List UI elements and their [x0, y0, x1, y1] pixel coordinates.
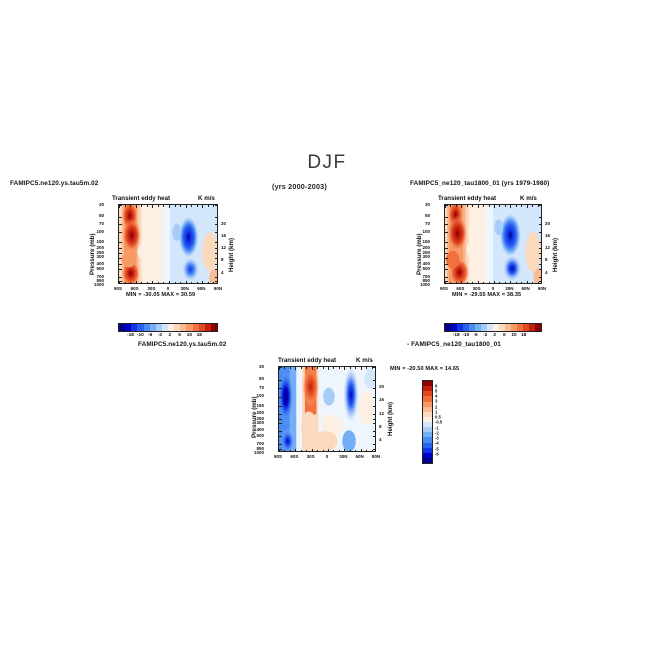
- panel-bottom-minmax: MIN = -20.50 MAX = 14.65: [390, 366, 459, 372]
- axis-tick-mark: [539, 253, 542, 254]
- axis-tick-mark: [461, 205, 462, 208]
- colorbar-tick-label: 1: [435, 409, 437, 414]
- panel-top-right-units: K m/s: [520, 195, 537, 202]
- axis-tick-mark: [119, 232, 122, 233]
- axis-tick-mark: [279, 419, 282, 420]
- axis-tick-mark: [279, 436, 282, 437]
- axis-minor-tick-mark: [532, 205, 533, 207]
- axis-tick-mark: [539, 232, 542, 233]
- pressure-tick-label: 30: [425, 202, 430, 207]
- main-title: DJF: [0, 152, 654, 174]
- height-tick-label: 16: [379, 397, 384, 402]
- axis-minor-tick-mark: [290, 450, 291, 452]
- axis-tick-mark: [373, 449, 376, 450]
- axis-tick-mark: [186, 205, 187, 208]
- axis-minor-tick-mark: [521, 205, 522, 207]
- axis-tick-mark: [445, 264, 448, 265]
- panel-top-right-colorbar[interactable]: [444, 323, 542, 332]
- pressure-tick-label: 1000: [94, 282, 104, 287]
- axis-tick-mark: [119, 224, 122, 225]
- lat-tick-label: 60S: [131, 286, 139, 291]
- pressure-tick-label: 150: [96, 239, 104, 244]
- axis-tick-mark: [119, 205, 122, 206]
- axis-minor-tick-mark: [141, 205, 142, 207]
- axis-tick-mark: [215, 217, 218, 218]
- height-tick-label: 20: [545, 221, 550, 226]
- axis-tick-mark: [373, 388, 376, 389]
- colorbar-tick-label: 18: [197, 333, 202, 338]
- colorbar-tick-label: -18: [127, 333, 134, 338]
- axis-tick-mark: [445, 258, 448, 259]
- panel-top-left-minmax: MIN = -30.05 MAX = 30.59: [126, 292, 195, 298]
- axis-tick-mark: [119, 258, 122, 259]
- axis-tick-mark: [312, 449, 313, 452]
- panel-bottom-case-title-right: - FAMIPC5_ne120_tau1800_01: [407, 341, 501, 348]
- pressure-tick-label: 50: [425, 213, 430, 218]
- axis-tick-mark: [527, 281, 528, 284]
- panel-top-left-plot-frame[interactable]: [118, 204, 218, 284]
- colorbar-tick-label: 2: [168, 333, 171, 338]
- pressure-tick-label: 300: [256, 420, 264, 425]
- colorbar-tick-label: 2: [435, 404, 437, 409]
- axis-tick-mark: [119, 264, 122, 265]
- height-tick-label: 12: [379, 411, 384, 416]
- height-tick-label: 8: [379, 424, 382, 429]
- axis-tick-mark: [373, 406, 376, 407]
- axis-tick-mark: [445, 217, 448, 218]
- colorbar-swatch-15: [211, 324, 217, 331]
- axis-tick-mark: [215, 242, 218, 243]
- axis-tick-mark: [215, 253, 218, 254]
- axis-tick-mark: [527, 205, 528, 208]
- axis-tick-mark: [312, 367, 313, 370]
- axis-minor-tick-mark: [472, 205, 473, 207]
- lat-tick-label: 0: [492, 286, 495, 291]
- colorbar-tick-label: -10: [137, 333, 144, 338]
- colorbar-tick-label: 5: [435, 388, 437, 393]
- axis-tick-mark: [136, 281, 137, 284]
- panel-bottom-plot-head: Transient eddy heat: [278, 357, 336, 364]
- axis-minor-tick-mark: [125, 205, 126, 207]
- axis-minor-tick-mark: [333, 450, 334, 452]
- axis-tick-mark: [136, 205, 137, 208]
- axis-tick-mark: [445, 248, 448, 249]
- axis-minor-tick-mark: [191, 282, 192, 284]
- lat-tick-label: 90S: [114, 286, 122, 291]
- height-tick-label: 16: [545, 233, 550, 238]
- axis-minor-tick-mark: [472, 282, 473, 284]
- axis-tick-mark: [478, 281, 479, 284]
- axis-minor-tick-mark: [505, 205, 506, 207]
- axis-tick-mark: [373, 414, 376, 415]
- axis-minor-tick-mark: [197, 282, 198, 284]
- pressure-tick-label: 1000: [254, 450, 264, 455]
- axis-minor-tick-mark: [499, 205, 500, 207]
- axis-minor-tick-mark: [339, 450, 340, 452]
- axis-minor-tick-mark: [147, 282, 148, 284]
- panel-top-left-units: K m/s: [198, 195, 215, 202]
- axis-tick-mark: [494, 281, 495, 284]
- axis-tick-mark: [279, 423, 282, 424]
- lat-tick-label: 60N: [197, 286, 205, 291]
- axis-minor-tick-mark: [180, 282, 181, 284]
- axis-tick-mark: [510, 281, 511, 284]
- height-tick-label: 16: [221, 233, 226, 238]
- axis-tick-mark: [215, 248, 218, 249]
- axis-minor-tick-mark: [450, 205, 451, 207]
- axis-minor-tick-mark: [532, 282, 533, 284]
- panel-bottom-diff[interactable]: FAMIPC5.ne120.ys.tau5m.02 - FAMIPC5_ne12…: [230, 336, 530, 486]
- axis-minor-tick-mark: [125, 282, 126, 284]
- axis-minor-tick-mark: [366, 367, 367, 369]
- lat-tick-label: 30S: [147, 286, 155, 291]
- axis-tick-mark: [539, 258, 542, 259]
- axis-minor-tick-mark: [175, 282, 176, 284]
- panel-top-left[interactable]: FAMIPC5.ne120.ys.tau5m.02 Transient eddy…: [0, 175, 240, 340]
- axis-tick-mark: [445, 281, 448, 282]
- axis-tick-mark: [344, 449, 345, 452]
- pressure-tick-label: 200: [256, 410, 264, 415]
- lat-tick-label: 30S: [473, 286, 481, 291]
- panel-top-left-case-title: FAMIPC5.ne120.ys.tau5m.02: [10, 180, 98, 187]
- panel-top-right-minmax: MIN = -29.55 MAX = 38.35: [452, 292, 521, 298]
- pressure-tick-label: 100: [96, 229, 104, 234]
- pressure-tick-label: 500: [96, 266, 104, 271]
- colorbar-tick-label: -6: [148, 333, 152, 338]
- axis-tick-mark: [215, 264, 218, 265]
- axis-tick-mark: [295, 449, 296, 452]
- panel-bottom-contour-field: [279, 367, 375, 451]
- axis-tick-mark: [373, 444, 376, 445]
- colorbar-swatch-15: [535, 324, 541, 331]
- axis-minor-tick-mark: [208, 205, 209, 207]
- height-tick-label: 4: [221, 270, 224, 275]
- colorbar-tick-label: 10: [187, 333, 192, 338]
- axis-minor-tick-mark: [208, 282, 209, 284]
- axis-tick-mark: [215, 258, 218, 259]
- pressure-tick-label: 500: [256, 433, 264, 438]
- axis-minor-tick-mark: [323, 367, 324, 369]
- lat-tick-label: 60S: [290, 454, 298, 459]
- axis-tick-mark: [494, 205, 495, 208]
- axis-tick-mark: [279, 449, 282, 450]
- pressure-tick-label: 300: [96, 254, 104, 259]
- pressure-tick-label: 70: [99, 221, 104, 226]
- axis-tick-mark: [279, 406, 282, 407]
- axis-tick-mark: [539, 264, 542, 265]
- axis-tick-mark: [215, 277, 218, 278]
- axis-tick-mark: [279, 367, 282, 368]
- axis-minor-tick-mark: [158, 205, 159, 207]
- colorbar-tick-label: 6: [435, 383, 437, 388]
- pressure-tick-label: 1000: [420, 282, 430, 287]
- colorbar-tick-label: -4: [435, 441, 439, 446]
- panel-top-left-contour-field: [119, 205, 217, 283]
- pressure-tick-label: 400: [256, 427, 264, 432]
- pressure-tick-label: 300: [422, 254, 430, 259]
- panel-top-right-ylabel-right: Height (km): [552, 238, 559, 272]
- axis-minor-tick-mark: [499, 282, 500, 284]
- axis-tick-mark: [445, 205, 448, 206]
- axis-minor-tick-mark: [141, 282, 142, 284]
- axis-tick-mark: [279, 397, 282, 398]
- lat-tick-label: 30N: [181, 286, 189, 291]
- axis-minor-tick-mark: [350, 450, 351, 452]
- axis-tick-mark: [169, 205, 170, 208]
- axis-tick-mark: [328, 367, 329, 370]
- pressure-tick-label: 100: [256, 393, 264, 398]
- axis-tick-mark: [328, 449, 329, 452]
- axis-tick-mark: [202, 281, 203, 284]
- panel-bottom-plot-frame[interactable]: [278, 366, 376, 452]
- axis-minor-tick-mark: [323, 450, 324, 452]
- axis-tick-mark: [279, 380, 282, 381]
- axis-minor-tick-mark: [489, 205, 490, 207]
- colorbar-tick-label: 0.5: [435, 415, 441, 420]
- pressure-tick-label: 50: [99, 213, 104, 218]
- axis-tick-mark: [373, 419, 376, 420]
- axis-tick-mark: [539, 205, 542, 206]
- axis-minor-tick-mark: [456, 205, 457, 207]
- axis-tick-mark: [119, 281, 122, 282]
- axis-tick-mark: [539, 242, 542, 243]
- height-tick-label: 8: [545, 257, 548, 262]
- axis-tick-mark: [279, 444, 282, 445]
- lat-tick-label: 90N: [372, 454, 380, 459]
- figure-subtitle: (yrs 2000-2003): [272, 182, 327, 191]
- pressure-tick-label: 500: [422, 266, 430, 271]
- axis-tick-mark: [119, 248, 122, 249]
- axis-tick-mark: [445, 242, 448, 243]
- axis-minor-tick-mark: [355, 367, 356, 369]
- colorbar-tick-label: 3: [435, 399, 437, 404]
- panel-bottom-units: K m/s: [356, 357, 373, 364]
- panel-bottom-ylabel-right: Height (km): [387, 402, 394, 436]
- height-tick-label: 20: [379, 384, 384, 389]
- axis-tick-mark: [461, 281, 462, 284]
- axis-tick-mark: [373, 436, 376, 437]
- colorbar-tick-label: -1: [435, 425, 439, 430]
- axis-minor-tick-mark: [450, 282, 451, 284]
- axis-minor-tick-mark: [284, 367, 285, 369]
- axis-minor-tick-mark: [521, 282, 522, 284]
- lat-tick-label: 60S: [456, 286, 464, 291]
- lat-tick-label: 30S: [307, 454, 315, 459]
- axis-minor-tick-mark: [130, 205, 131, 207]
- axis-minor-tick-mark: [317, 450, 318, 452]
- axis-minor-tick-mark: [333, 367, 334, 369]
- axis-minor-tick-mark: [516, 205, 517, 207]
- axis-tick-mark: [119, 269, 122, 270]
- axis-tick-mark: [169, 281, 170, 284]
- colorbar-tick-label: -5: [435, 446, 439, 451]
- axis-tick-mark: [202, 205, 203, 208]
- axis-tick-mark: [539, 277, 542, 278]
- pressure-tick-label: 150: [256, 403, 264, 408]
- panel-top-right-plot-head: Transient eddy heat: [438, 195, 496, 202]
- pressure-tick-label: 50: [259, 376, 264, 381]
- axis-minor-tick-mark: [366, 450, 367, 452]
- axis-tick-mark: [152, 205, 153, 208]
- height-tick-label: 12: [221, 245, 226, 250]
- axis-tick-mark: [539, 224, 542, 225]
- colorbar-tick-label: -2: [158, 333, 162, 338]
- lat-tick-label: 90S: [440, 286, 448, 291]
- lat-tick-label: 90S: [274, 454, 282, 459]
- axis-minor-tick-mark: [339, 367, 340, 369]
- axis-tick-mark: [119, 253, 122, 254]
- axis-tick-mark: [445, 277, 448, 278]
- axis-tick-mark: [373, 380, 376, 381]
- axis-tick-mark: [373, 431, 376, 432]
- axis-minor-tick-mark: [516, 282, 517, 284]
- axis-tick-mark: [215, 281, 218, 282]
- axis-minor-tick-mark: [290, 367, 291, 369]
- axis-tick-mark: [445, 224, 448, 225]
- lat-tick-label: 90N: [214, 286, 222, 291]
- panel-top-left-plot-head: Transient eddy heat: [112, 195, 170, 202]
- axis-tick-mark: [373, 367, 376, 368]
- height-tick-label: 8: [221, 257, 224, 262]
- axis-minor-tick-mark: [175, 205, 176, 207]
- lat-tick-label: 60N: [522, 286, 530, 291]
- axis-minor-tick-mark: [284, 450, 285, 452]
- panel-top-left-ylabel-right: Height (km): [228, 238, 235, 272]
- panel-top-left-colorbar[interactable]: [118, 323, 218, 332]
- lat-tick-label: 0: [167, 286, 170, 291]
- axis-tick-mark: [539, 281, 542, 282]
- axis-tick-mark: [279, 414, 282, 415]
- axis-minor-tick-mark: [467, 205, 468, 207]
- axis-minor-tick-mark: [355, 450, 356, 452]
- panel-top-left-ylabel-left: Pressure (mb): [89, 233, 96, 275]
- lat-tick-label: 60N: [356, 454, 364, 459]
- axis-tick-mark: [215, 269, 218, 270]
- axis-minor-tick-mark: [130, 282, 131, 284]
- colorbar-tick-label: -0.5: [435, 420, 442, 425]
- axis-tick-mark: [344, 367, 345, 370]
- axis-minor-tick-mark: [483, 282, 484, 284]
- axis-tick-mark: [279, 388, 282, 389]
- axis-minor-tick-mark: [306, 367, 307, 369]
- colorbar-swatch-0: [423, 458, 432, 463]
- axis-minor-tick-mark: [191, 205, 192, 207]
- axis-minor-tick-mark: [489, 282, 490, 284]
- colorbar-tick-label: 6: [178, 333, 181, 338]
- axis-tick-mark: [445, 232, 448, 233]
- axis-tick-mark: [539, 217, 542, 218]
- axis-tick-mark: [119, 277, 122, 278]
- axis-minor-tick-mark: [301, 367, 302, 369]
- pressure-tick-label: 70: [259, 385, 264, 390]
- axis-tick-mark: [361, 367, 362, 370]
- axis-tick-mark: [295, 367, 296, 370]
- axis-tick-mark: [186, 281, 187, 284]
- panel-bottom-colorbar[interactable]: [422, 380, 433, 464]
- axis-tick-mark: [510, 205, 511, 208]
- axis-tick-mark: [215, 205, 218, 206]
- axis-minor-tick-mark: [158, 282, 159, 284]
- axis-minor-tick-mark: [163, 205, 164, 207]
- axis-tick-mark: [361, 449, 362, 452]
- lat-tick-label: 90N: [538, 286, 546, 291]
- axis-tick-mark: [539, 269, 542, 270]
- pressure-tick-label: 100: [422, 229, 430, 234]
- height-tick-label: 20: [221, 221, 226, 226]
- height-tick-label: 12: [545, 245, 550, 250]
- lat-tick-label: 0: [326, 454, 329, 459]
- panel-top-right[interactable]: FAMIPC5_ne120_tau1800_01 (yrs 1979-1980)…: [400, 175, 640, 340]
- axis-minor-tick-mark: [505, 282, 506, 284]
- axis-tick-mark: [119, 242, 122, 243]
- axis-minor-tick-mark: [317, 367, 318, 369]
- axis-tick-mark: [215, 224, 218, 225]
- colorbar-tick-label: 4: [435, 394, 437, 399]
- axis-minor-tick-mark: [483, 205, 484, 207]
- lat-tick-label: 30N: [505, 286, 513, 291]
- axis-minor-tick-mark: [306, 450, 307, 452]
- panel-top-right-plot-frame[interactable]: [444, 204, 542, 284]
- pressure-tick-label: 70: [425, 221, 430, 226]
- axis-minor-tick-mark: [350, 367, 351, 369]
- axis-tick-mark: [152, 281, 153, 284]
- pressure-tick-label: 30: [99, 202, 104, 207]
- axis-minor-tick-mark: [467, 282, 468, 284]
- panel-top-right-case-title: FAMIPC5_ne120_tau1800_01 (yrs 1979-1980): [410, 180, 549, 187]
- lat-tick-label: 30N: [339, 454, 347, 459]
- panel-bottom-case-title-left: FAMIPC5.ne120.ys.tau5m.02: [138, 341, 226, 348]
- pressure-tick-label: 150: [422, 239, 430, 244]
- axis-minor-tick-mark: [456, 282, 457, 284]
- axis-tick-mark: [445, 253, 448, 254]
- height-tick-label: 4: [545, 270, 548, 275]
- axis-tick-mark: [539, 248, 542, 249]
- axis-tick-mark: [373, 423, 376, 424]
- axis-minor-tick-mark: [180, 205, 181, 207]
- axis-minor-tick-mark: [301, 450, 302, 452]
- axis-minor-tick-mark: [163, 282, 164, 284]
- colorbar-tick-label: -6: [435, 451, 439, 456]
- axis-tick-mark: [373, 397, 376, 398]
- axis-tick-mark: [119, 217, 122, 218]
- pressure-tick-label: 30: [259, 364, 264, 369]
- axis-tick-mark: [215, 232, 218, 233]
- colorbar-tick-label: -3: [435, 436, 439, 441]
- axis-minor-tick-mark: [147, 205, 148, 207]
- axis-minor-tick-mark: [197, 205, 198, 207]
- axis-tick-mark: [279, 431, 282, 432]
- height-tick-label: 4: [379, 437, 382, 442]
- axis-tick-mark: [478, 205, 479, 208]
- panel-top-right-contour-field: [445, 205, 541, 283]
- colorbar-tick-label: -2: [435, 430, 439, 435]
- axis-tick-mark: [445, 269, 448, 270]
